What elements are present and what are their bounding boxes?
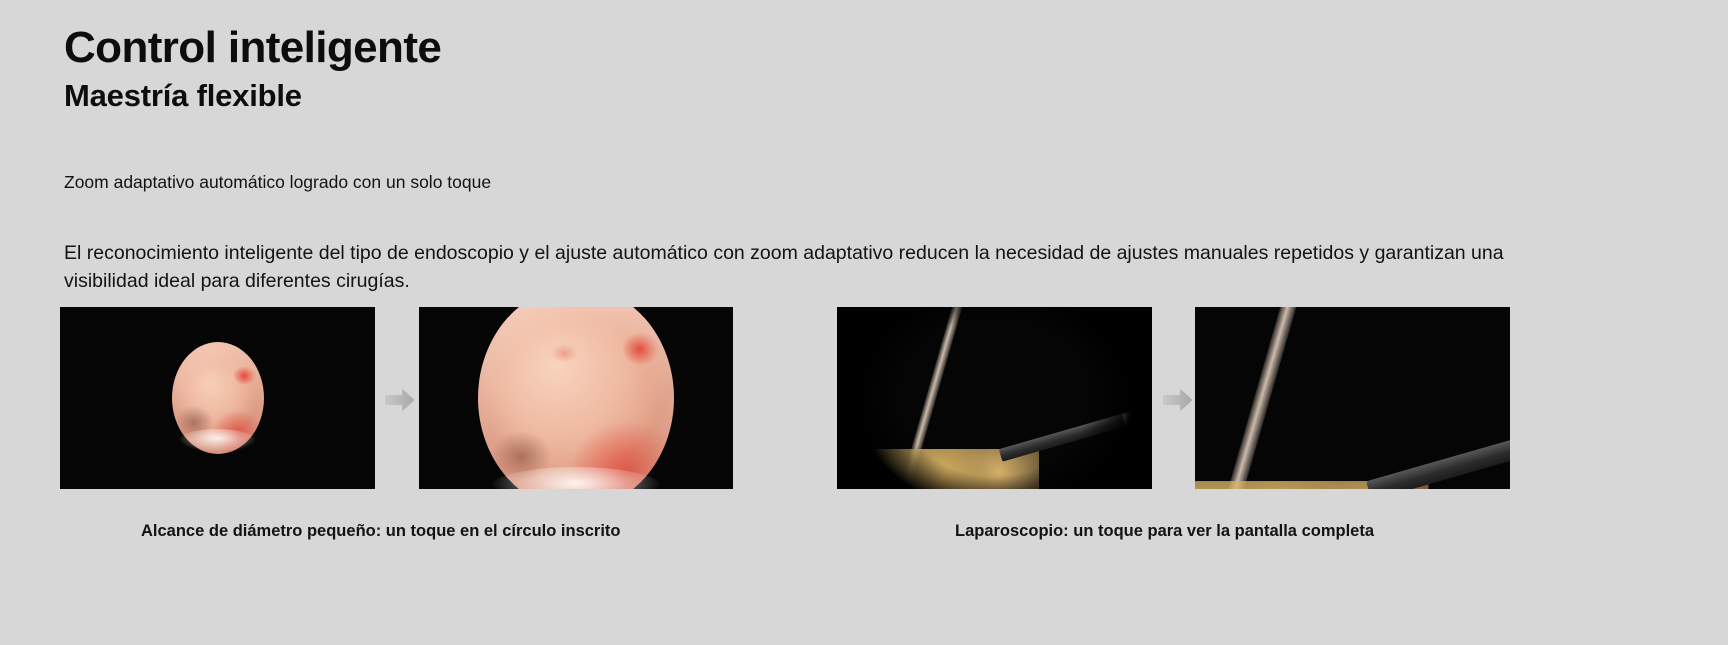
caption-left: Alcance de diámetro pequeño: un toque en… — [141, 522, 621, 541]
page-title: Control inteligente — [64, 24, 1364, 72]
body-paragraph: El reconocimiento inteligente del tipo d… — [64, 239, 1512, 296]
vessel-strand — [1207, 307, 1312, 489]
scope-vignette — [837, 307, 1152, 489]
lede-text: Zoom adaptativo automático logrado con u… — [64, 170, 491, 195]
figure-row — [0, 307, 1728, 489]
heading-block: Control inteligente Maestría flexible — [64, 24, 1364, 113]
slide-root: Control inteligente Maestría flexible Zo… — [0, 0, 1728, 645]
arrow-right-icon — [1163, 388, 1193, 412]
figure-right-before — [837, 307, 1152, 489]
caption-right: Laparoscopio: un toque para ver la panta… — [955, 522, 1374, 541]
figure-right-after — [1195, 307, 1510, 489]
laparoscope-scene-fullscreen — [1195, 307, 1510, 489]
arrow-right-icon — [385, 388, 415, 412]
endoscope-view-small — [172, 342, 264, 454]
figure-left-after — [419, 307, 733, 489]
page-subtitle: Maestría flexible — [64, 78, 1364, 114]
figure-left-before — [60, 307, 375, 489]
surgical-instrument — [1365, 419, 1510, 489]
endoscope-view-zoomed — [478, 307, 674, 489]
